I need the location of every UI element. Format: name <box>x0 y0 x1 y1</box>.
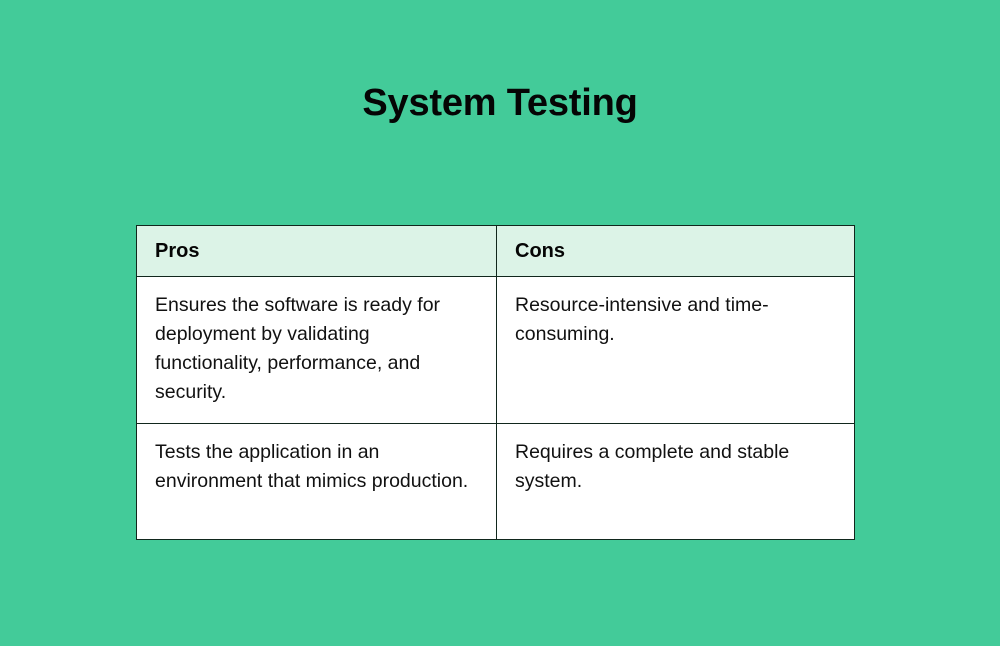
page-title: System Testing <box>0 80 1000 126</box>
cell-pros-1-text: Ensures the software is ready for deploy… <box>155 291 479 407</box>
column-header-pros: Pros <box>137 226 497 277</box>
table-row: Tests the application in an environment … <box>137 424 855 540</box>
table-header: Pros Cons <box>137 226 855 277</box>
table-row: Ensures the software is ready for deploy… <box>137 277 855 424</box>
column-header-cons: Cons <box>497 226 855 277</box>
pros-cons-table: Pros Cons Ensures the software is ready … <box>136 225 855 540</box>
column-header-cons-label: Cons <box>515 238 837 264</box>
cell-pros-1: Ensures the software is ready for deploy… <box>137 277 497 424</box>
cell-cons-1-text: Resource-intensive and time-consuming. <box>515 291 837 349</box>
table-header-row: Pros Cons <box>137 226 855 277</box>
cell-cons-2-text: Requires a complete and stable system. <box>515 438 837 496</box>
slide-canvas: System Testing Pros Cons <box>0 0 1000 646</box>
column-header-pros-label: Pros <box>155 238 479 264</box>
pros-cons-table-container: Pros Cons Ensures the software is ready … <box>136 225 854 540</box>
cell-cons-1: Resource-intensive and time-consuming. <box>497 277 855 424</box>
cell-cons-2: Requires a complete and stable system. <box>497 424 855 540</box>
cell-pros-2-text: Tests the application in an environment … <box>155 438 479 496</box>
table-body: Ensures the software is ready for deploy… <box>137 277 855 540</box>
cell-pros-2: Tests the application in an environment … <box>137 424 497 540</box>
